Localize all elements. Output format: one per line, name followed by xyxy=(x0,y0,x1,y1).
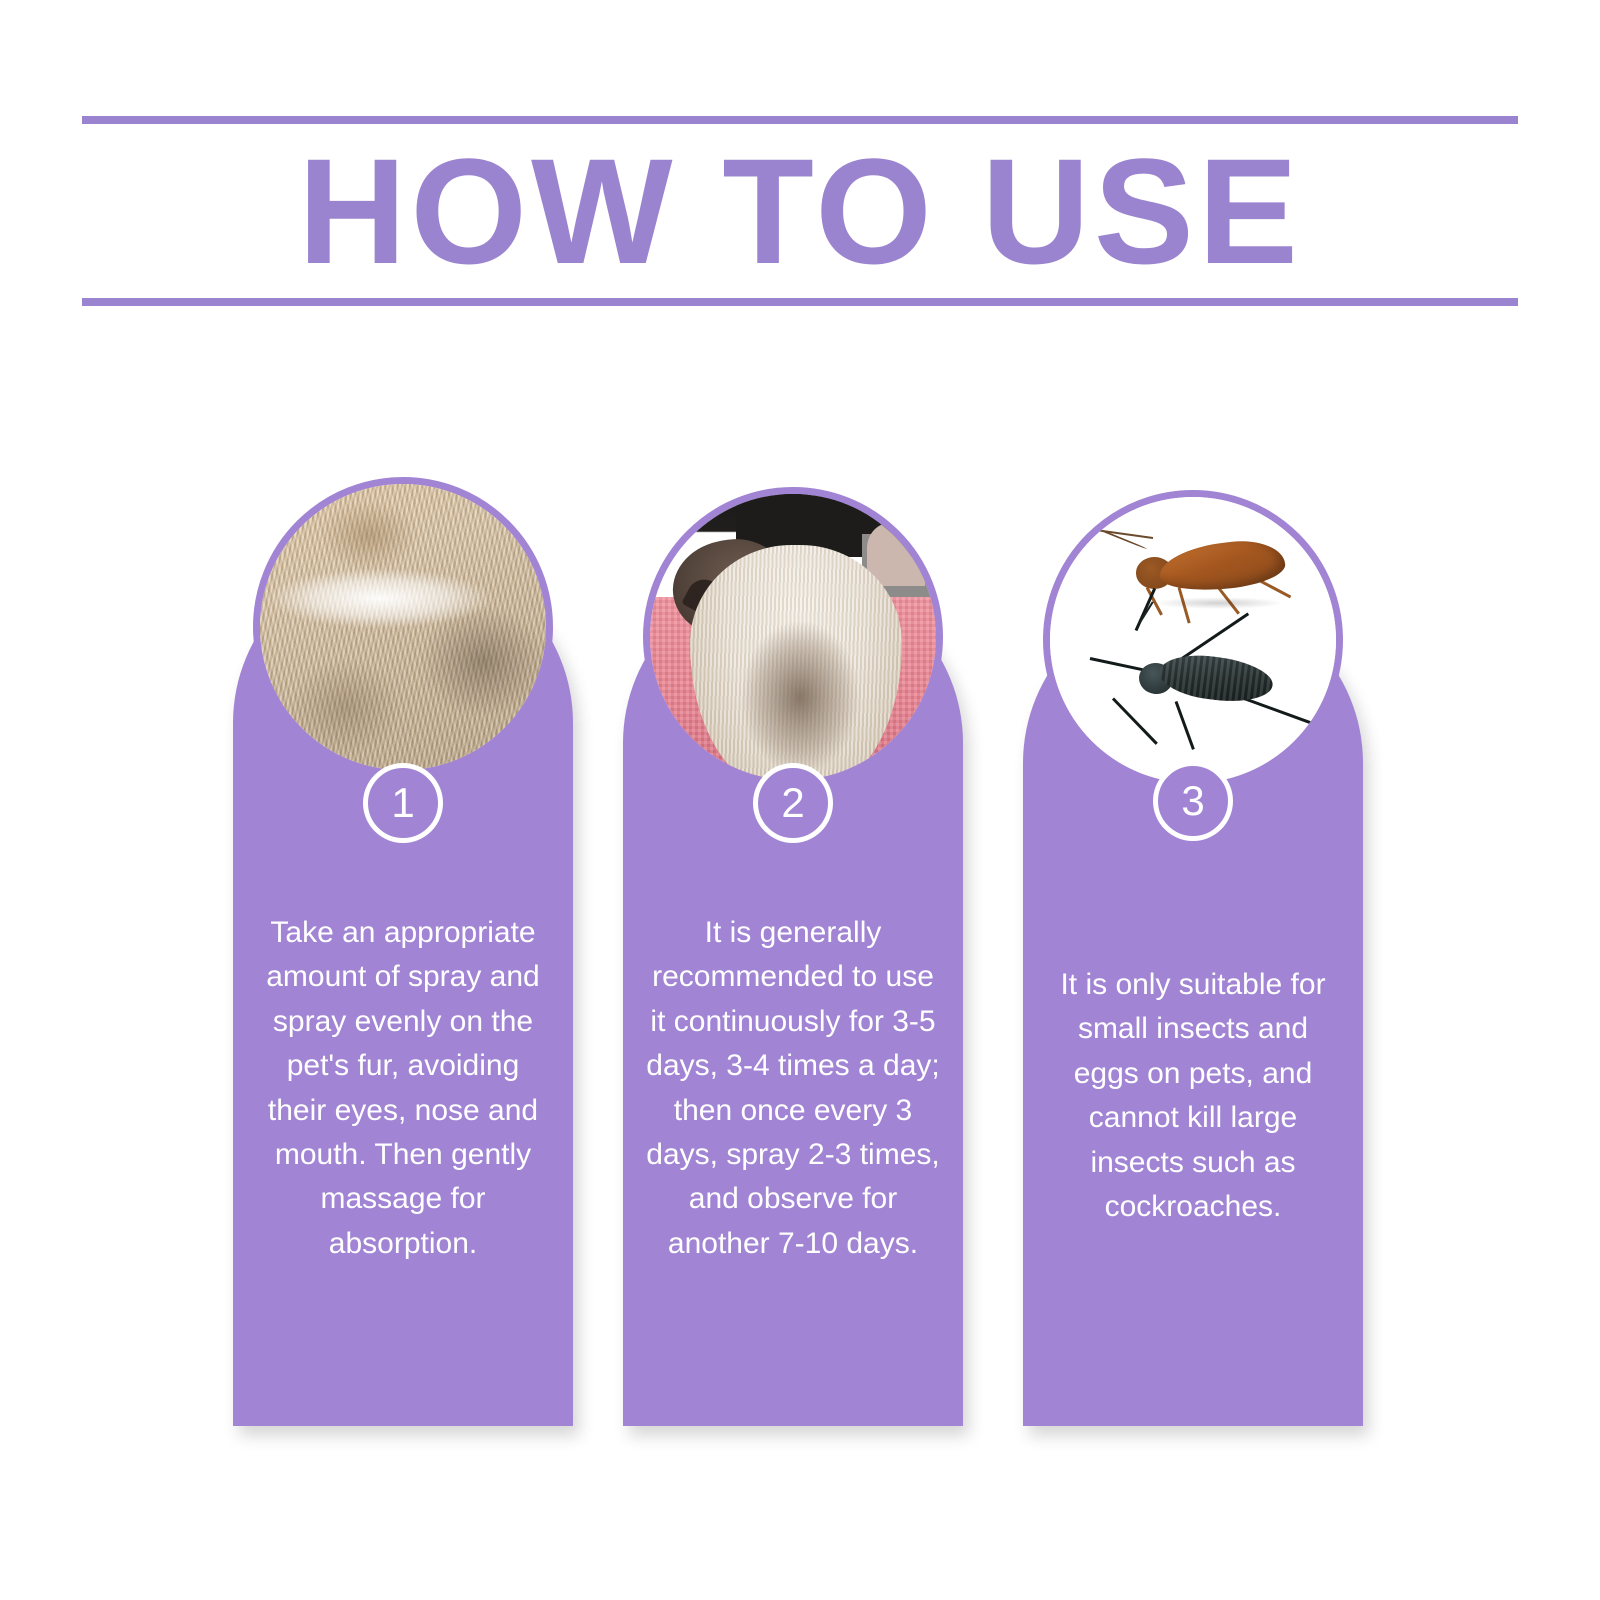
cockroach-shadow xyxy=(1153,597,1285,608)
beetle-leg xyxy=(1181,613,1249,660)
step-2-photo xyxy=(643,487,943,787)
step-3-text: It is only suitable for small insects an… xyxy=(1045,963,1341,1229)
cat-body xyxy=(690,545,902,780)
step-3-photo xyxy=(1043,490,1343,790)
step-card-3: 3 It is only suitable for small insects … xyxy=(1023,593,1363,1426)
step-3-number-badge: 3 xyxy=(1153,761,1233,841)
step-1-number-badge: 1 xyxy=(363,763,443,843)
step-card-2: 2 It is generally recommended to use it … xyxy=(623,573,963,1426)
siamese-cat-photo xyxy=(650,494,936,780)
beetle-leg xyxy=(1112,698,1158,745)
beetle-body xyxy=(1156,650,1275,707)
cat-background-beige xyxy=(867,523,924,586)
steps-container: 1 Take an appropriate amount of spray an… xyxy=(0,0,1600,1600)
beetle-leg xyxy=(1174,701,1194,750)
pet-fur-spray-photo xyxy=(260,484,546,770)
insects-cockroach-beetle-photo xyxy=(1050,497,1336,783)
step-card-1: 1 Take an appropriate amount of spray an… xyxy=(233,553,573,1426)
step-1-photo xyxy=(253,477,553,777)
step-1-text: Take an appropriate amount of spray and … xyxy=(255,911,551,1266)
beetle-leg xyxy=(1134,588,1155,631)
beetle-leg xyxy=(1244,697,1315,725)
step-2-number-badge: 2 xyxy=(753,763,833,843)
step-2-text: It is generally recommended to use it co… xyxy=(645,911,941,1266)
